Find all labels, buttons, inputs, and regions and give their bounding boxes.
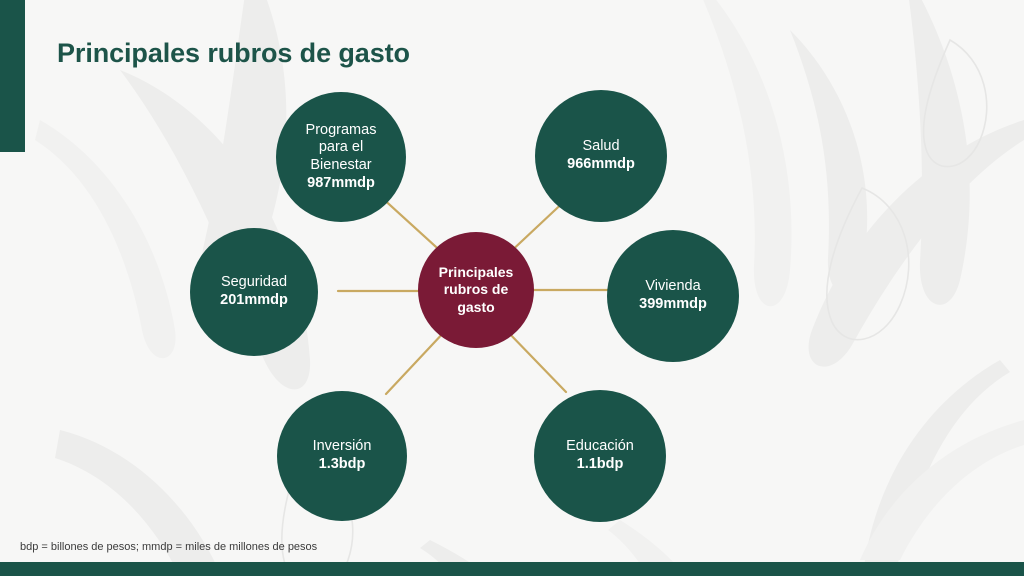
node-label: Educación bbox=[560, 438, 640, 456]
node-label: Vivienda bbox=[639, 278, 706, 296]
node-value: 399mmdp bbox=[639, 296, 707, 314]
bottom-accent-bar bbox=[0, 562, 1024, 576]
node-value: 966mmdp bbox=[567, 156, 635, 174]
node-salud[interactable]: Salud 966mmdp bbox=[535, 90, 667, 222]
node-label: Salud bbox=[576, 138, 625, 156]
node-label: Seguridad bbox=[215, 274, 293, 292]
node-label: Programas bbox=[300, 122, 383, 140]
node-label-line3: Bienestar bbox=[304, 157, 377, 175]
node-label-line2: para el bbox=[313, 139, 369, 157]
node-programas-para-el-bienestar[interactable]: Programas para el Bienestar 987mmdp bbox=[276, 92, 406, 222]
slide-canvas: Principales rubros de gasto Principales … bbox=[0, 0, 1024, 576]
node-educacion[interactable]: Educación 1.1bdp bbox=[534, 390, 666, 522]
node-inversion[interactable]: Inversión 1.3bdp bbox=[277, 391, 407, 521]
node-label: Inversión bbox=[307, 438, 378, 456]
center-node[interactable]: Principales rubros de gasto bbox=[418, 232, 534, 348]
hub-and-spoke-diagram: Principales rubros de gasto Programas pa… bbox=[0, 0, 1024, 576]
node-seguridad[interactable]: Seguridad 201mmdp bbox=[190, 228, 318, 356]
node-value: 1.3bdp bbox=[319, 456, 366, 474]
center-node-label-line2: rubros de bbox=[438, 281, 515, 298]
node-value: 201mmdp bbox=[220, 292, 288, 310]
footnote: bdp = billones de pesos; mmdp = miles de… bbox=[20, 541, 317, 553]
center-node-label-line3: gasto bbox=[451, 299, 500, 316]
node-vivienda[interactable]: Vivienda 399mmdp bbox=[607, 230, 739, 362]
connector-line-inversion bbox=[386, 330, 446, 394]
connector-line-educacion bbox=[506, 330, 566, 392]
node-value: 1.1bdp bbox=[577, 456, 624, 474]
center-node-label: Principales bbox=[433, 264, 520, 281]
node-value: 987mmdp bbox=[307, 175, 375, 193]
